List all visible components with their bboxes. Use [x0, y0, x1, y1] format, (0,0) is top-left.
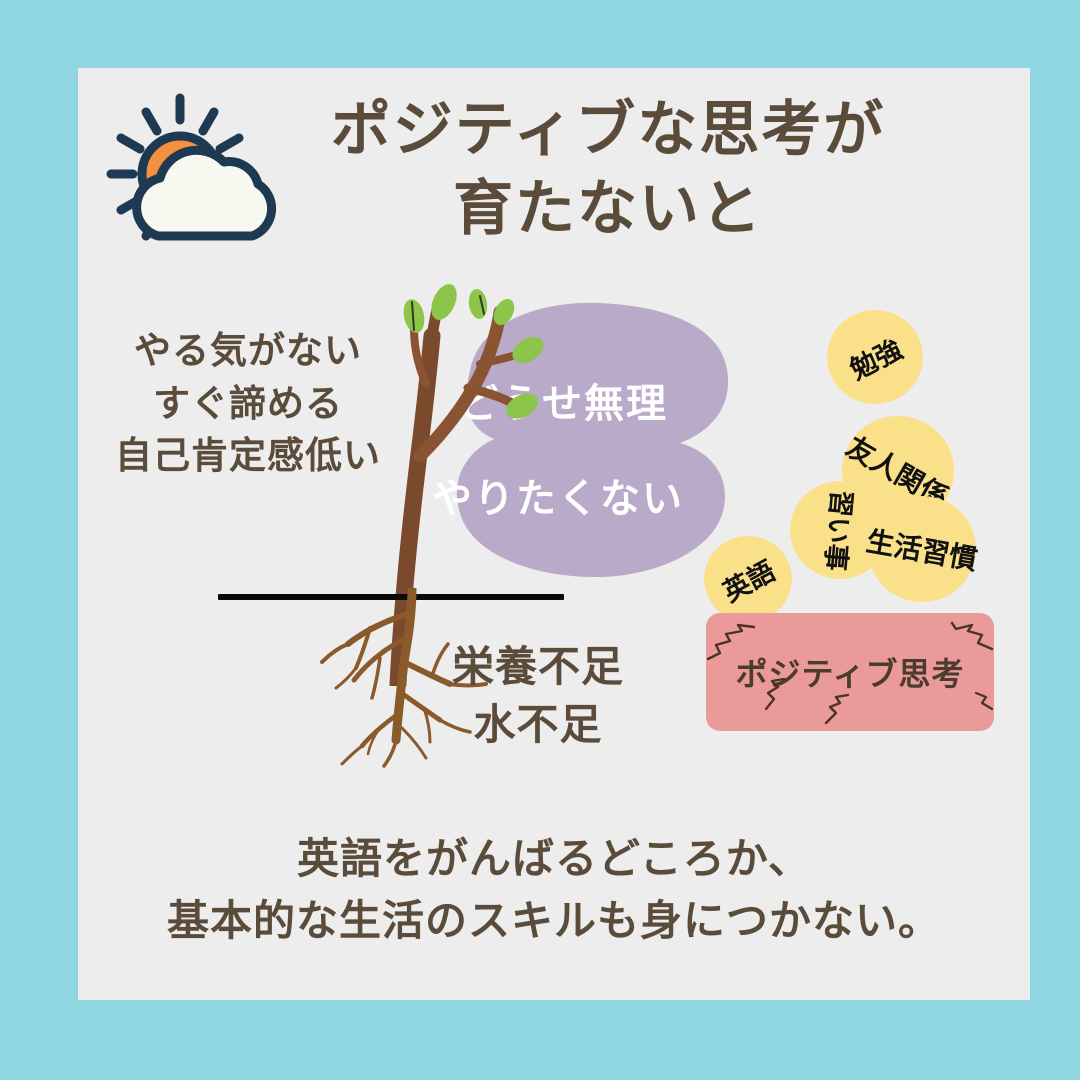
roots-deficiency-text: 栄養不足 水不足: [408, 638, 668, 754]
bubble-naraigoto-label: 習い事: [817, 488, 863, 572]
bottom-caption: 英語をがんばるどころか、 基本的な生活のスキルも身につかない。: [78, 828, 1030, 952]
infographic-canvas: ポジティブな思考が 育たないと やる気がない すぐ諦める 自己肯定感低い どうせ…: [0, 0, 1080, 1080]
bubble-benkyou-label: 勉強: [842, 327, 908, 386]
bubble-eigo: 英語: [704, 536, 792, 622]
bubble-seikatsu-shukan: 生活習慣: [868, 496, 976, 602]
bubble-seikatsu-shukan-label: 生活習慣: [863, 520, 980, 579]
caption-line-2: 基本的な生活のスキルも身につかない。: [78, 890, 1030, 952]
bubble-eigo-label: 英語: [715, 549, 781, 609]
crack-lines-icon: [706, 613, 994, 731]
caption-line-1: 英語をがんばるどころか、: [78, 828, 1030, 890]
bubble-benkyou: 勉強: [827, 310, 923, 404]
roots-line-2: 水不足: [408, 696, 668, 754]
page-title: ポジティブな思考が 育たないと: [278, 90, 938, 248]
cracked-positive-thinking-box: ポジティブ思考: [706, 613, 994, 731]
sun-behind-cloud-icon: [96, 88, 296, 268]
title-line-2: 育たないと: [278, 169, 938, 248]
infographic-card: ポジティブな思考が 育たないと やる気がない すぐ諦める 自己肯定感低い どうせ…: [78, 68, 1030, 1000]
header: ポジティブな思考が 育たないと: [78, 68, 1030, 268]
roots-line-1: 栄養不足: [408, 638, 668, 696]
title-line-1: ポジティブな思考が: [278, 90, 938, 169]
